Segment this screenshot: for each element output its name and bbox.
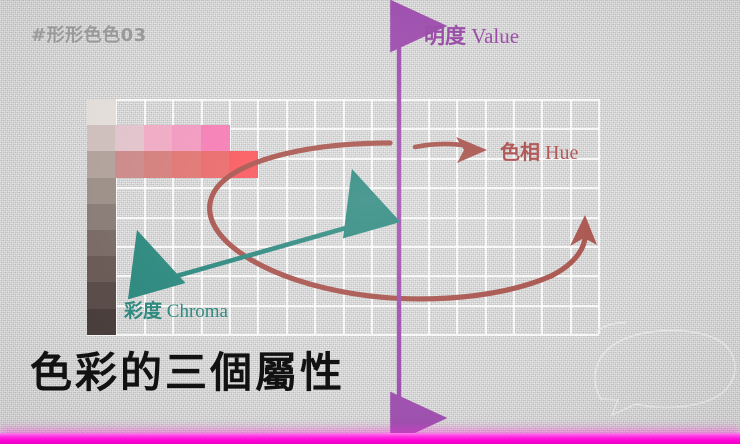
swatch-value-6 — [87, 256, 116, 283]
grid-line-horizontal — [87, 187, 599, 189]
swatch-chroma-0 — [87, 151, 116, 178]
bottom-accent-bar — [0, 433, 740, 444]
grid-line-horizontal — [87, 99, 599, 101]
swatch-chroma-4 — [201, 151, 230, 178]
swatch-value-3 — [87, 178, 116, 205]
grid-line-horizontal — [87, 217, 599, 219]
swatch-tint-0 — [87, 125, 116, 152]
swatch-tint-2 — [144, 125, 173, 152]
swatch-tint-1 — [115, 125, 144, 152]
hashtag-label: #形形色色03 — [31, 21, 147, 47]
hue-axis-label: 色相 Hue — [500, 142, 578, 163]
chroma-axis-label: 彩度 Chroma — [124, 302, 228, 321]
swatch-value-8 — [87, 309, 116, 336]
chroma-label-latin: Chroma — [167, 301, 228, 322]
value-axis-label: 明度 Value — [424, 26, 519, 47]
hue-label-cjk: 色相 — [500, 140, 540, 164]
swatch-tint-3 — [172, 125, 201, 152]
swatch-chroma-3 — [172, 151, 201, 178]
value-label-cjk: 明度 — [424, 24, 466, 48]
grid-line-horizontal — [87, 246, 599, 248]
swatch-chroma-5 — [229, 151, 258, 178]
swatch-value-5 — [87, 230, 116, 257]
swatch-value-7 — [87, 282, 116, 309]
page-title: 色彩的三個屬性 — [30, 352, 345, 394]
doodle-speech-bubble — [595, 323, 735, 415]
grid-line-horizontal — [87, 275, 599, 277]
swatch-value-0 — [87, 99, 116, 126]
swatch-value-4 — [87, 204, 116, 231]
value-label-latin: Value — [471, 24, 519, 48]
chroma-label-cjk: 彩度 — [124, 300, 162, 322]
swatch-tint-4 — [201, 125, 230, 152]
slide-canvas: #形形色色03 明度 Value 色相 Hue 彩度 Chroma 色彩的三個屬… — [0, 0, 740, 444]
swatch-chroma-1 — [115, 151, 144, 178]
swatch-chroma-2 — [144, 151, 173, 178]
hue-label-latin: Hue — [545, 142, 578, 164]
grid-line-horizontal — [87, 334, 599, 336]
